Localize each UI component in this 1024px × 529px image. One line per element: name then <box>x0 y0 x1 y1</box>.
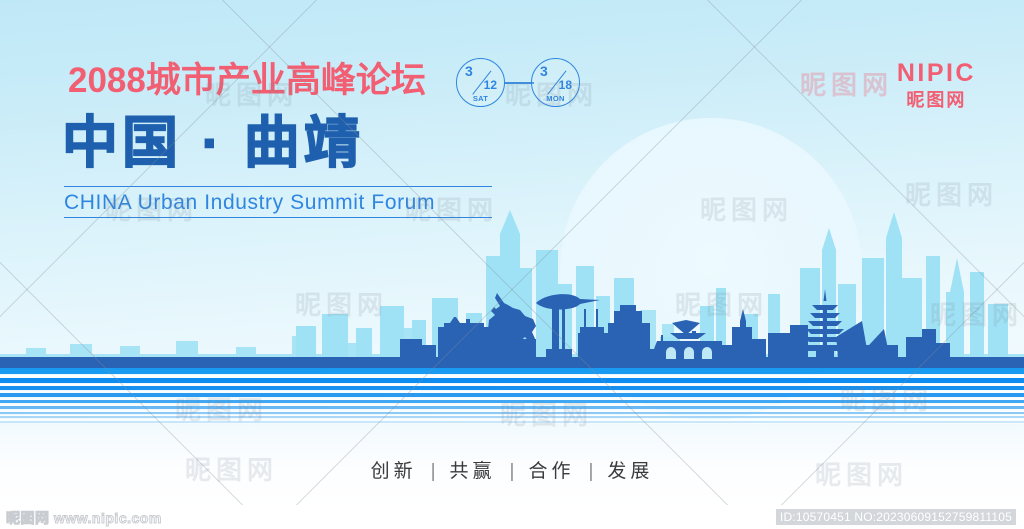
water-stripe <box>0 368 1024 374</box>
footer-site-url: www.nipic.com <box>54 510 162 526</box>
tagline-item: 创新 <box>371 461 417 482</box>
english-subtitle: CHINA Urban Industry Summit Forum <box>64 191 435 215</box>
event-headline: 2088城市产业高峰论坛 <box>68 63 426 98</box>
tagline-row: 创新|共赢|合作|发展 <box>0 456 1024 483</box>
date-connector-line <box>504 82 534 84</box>
water-stripe <box>0 421 1024 423</box>
date-badge-end: 3 18 MON <box>531 58 580 107</box>
date-badge-start: 3 12 SAT <box>456 58 505 107</box>
city-title: 中国 · 曲靖 <box>62 115 364 171</box>
start-month: 3 <box>465 64 473 78</box>
footer-bar: 昵图网 www.nipic.com ID:10570451 NO:2023060… <box>0 505 1024 529</box>
poster-artboard: 2088城市产业高峰论坛 3 12 SAT 3 18 MON 中国 · 曲靖 C… <box>0 0 1024 505</box>
tagline-separator: | <box>574 461 607 482</box>
end-day: 18 <box>559 79 572 91</box>
water-stripe-band <box>0 368 1024 424</box>
subtitle-rule-bottom <box>64 217 492 218</box>
water-stripe <box>0 386 1024 390</box>
tagline-separator: | <box>417 461 450 482</box>
nipic-logo: NIPIC 昵图网 <box>897 60 976 110</box>
end-month: 3 <box>540 64 548 78</box>
footer-site-mark: 昵图网 <box>6 510 50 526</box>
footer-asset-id: ID:10570451 NO:20230609152759811105 <box>776 509 1016 525</box>
foreground-landmark-skyline <box>0 253 1024 368</box>
footer-site-label: 昵图网 www.nipic.com <box>6 508 162 528</box>
start-weekday: SAT <box>457 95 504 103</box>
brand-name-cn: 昵图网 <box>897 91 976 110</box>
tagline-item: 共赢 <box>450 461 496 482</box>
tagline-item: 合作 <box>528 461 574 482</box>
start-day: 12 <box>484 79 497 91</box>
water-stripe <box>0 378 1024 383</box>
tagline-separator: | <box>496 461 529 482</box>
end-weekday: MON <box>532 95 579 103</box>
poster-canvas: 2088城市产业高峰论坛 3 12 SAT 3 18 MON 中国 · 曲靖 C… <box>0 0 1024 529</box>
brand-name-en: NIPIC <box>897 60 976 86</box>
headline-text: 2088城市产业高峰论坛 <box>68 61 426 100</box>
water-stripe <box>0 400 1024 403</box>
water-stripe <box>0 393 1024 397</box>
tagline-item: 发展 <box>607 461 653 482</box>
subtitle-rule-top <box>64 186 492 187</box>
date-badge-group: 3 12 SAT 3 18 MON <box>455 58 580 108</box>
